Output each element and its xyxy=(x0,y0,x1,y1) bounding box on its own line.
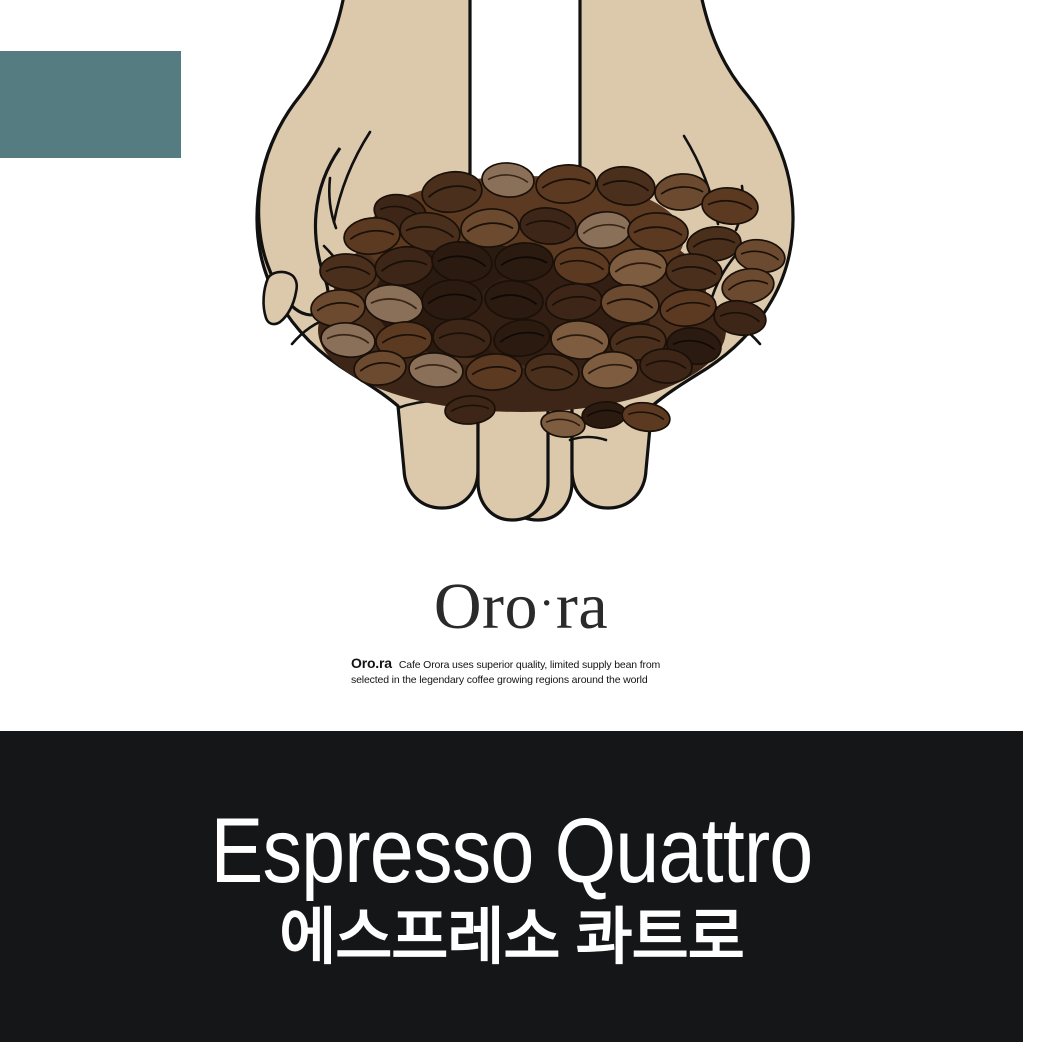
brand-wordmark: Oro·ra xyxy=(0,560,1042,644)
wordmark-part2: ra xyxy=(556,570,608,643)
brand-tagline: Oro.raCafe Orora uses superior quality, … xyxy=(351,656,691,688)
product-footer-band: Espresso Quattro 에스프레소 콰트로 xyxy=(0,731,1023,1042)
product-title-korean: 에스프레소 콰트로 xyxy=(0,899,1023,973)
brand-block: Oro·ra Oro.raCafe Orora uses superior qu… xyxy=(0,560,1042,720)
tagline-brand-name: Oro.ra xyxy=(351,655,399,671)
tagline-text-line1: Cafe Orora uses superior quality, limite… xyxy=(399,659,660,671)
tagline-first-line: Oro.raCafe Orora uses superior quality, … xyxy=(351,656,691,673)
wordmark-middle-dot: · xyxy=(538,577,556,628)
hands-with-coffee-beans-illustration xyxy=(0,0,1042,560)
product-title: Espresso Quattro xyxy=(72,731,952,899)
tagline-second-line: selected in the legendary coffee growing… xyxy=(351,673,691,688)
poster-canvas: Oro·ra Oro.raCafe Orora uses superior qu… xyxy=(0,0,1042,1042)
wordmark-part1: Oro xyxy=(434,570,538,643)
